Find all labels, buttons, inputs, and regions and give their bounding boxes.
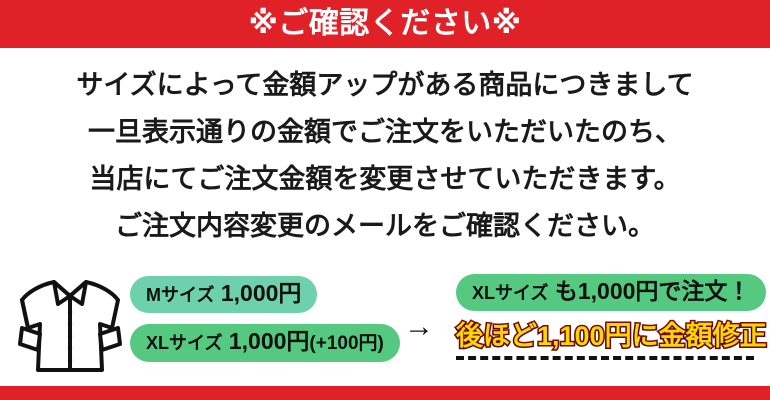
- xl-order-badge: XLサイズ も1,000円で注文！: [456, 274, 766, 311]
- notice-line-1: サイズによって金額アップがある商品につきまして: [0, 62, 770, 109]
- xl-size-surcharge: (+100円): [309, 333, 383, 354]
- dashed-underline: [456, 356, 754, 360]
- xl-order-text: も1,000円で注文！: [555, 278, 751, 304]
- page-title: ※ご確認ください※: [249, 9, 522, 39]
- header-bar: ※ご確認ください※: [0, 0, 770, 48]
- notice-line-2: 一旦表示通りの金額でご注文をいただいたのち、: [0, 109, 770, 156]
- footer-bar: [0, 386, 770, 400]
- right-arrow-icon: →: [404, 312, 434, 342]
- dress-shirt-icon: [14, 270, 126, 380]
- after-pricing: XLサイズ も1,000円で注文！ 後ほど1,100円に金額修正: [456, 274, 766, 360]
- notice-line-3: 当店にてご注文金額を変更させていただきます。: [0, 156, 770, 203]
- xl-size-label: XLサイズ: [146, 333, 222, 353]
- price-comparison: Mサイズ 1,000円 XLサイズ 1,000円(+100円) → XLサイズ …: [0, 266, 770, 384]
- xl-size-price: 1,000円: [229, 328, 310, 354]
- xl-order-size-label: XLサイズ: [472, 283, 548, 303]
- before-pricing: Mサイズ 1,000円 XLサイズ 1,000円(+100円): [130, 276, 392, 362]
- xl-size-price-badge: XLサイズ 1,000円(+100円): [130, 324, 400, 362]
- m-size-price: 1,000円: [221, 280, 302, 306]
- m-size-label: Mサイズ: [146, 285, 214, 305]
- price-correction-note: 後ほど1,100円に金額修正: [456, 321, 766, 352]
- notice-banner: ※ご確認ください※ サイズによって金額アップがある商品につきまして 一旦表示通り…: [0, 0, 770, 400]
- m-size-price-badge: Mサイズ 1,000円: [130, 276, 317, 313]
- notice-body: サイズによって金額アップがある商品につきまして 一旦表示通りの金額でご注文をいた…: [0, 62, 770, 250]
- notice-line-4: ご注文内容変更のメールをご確認ください。: [0, 203, 770, 250]
